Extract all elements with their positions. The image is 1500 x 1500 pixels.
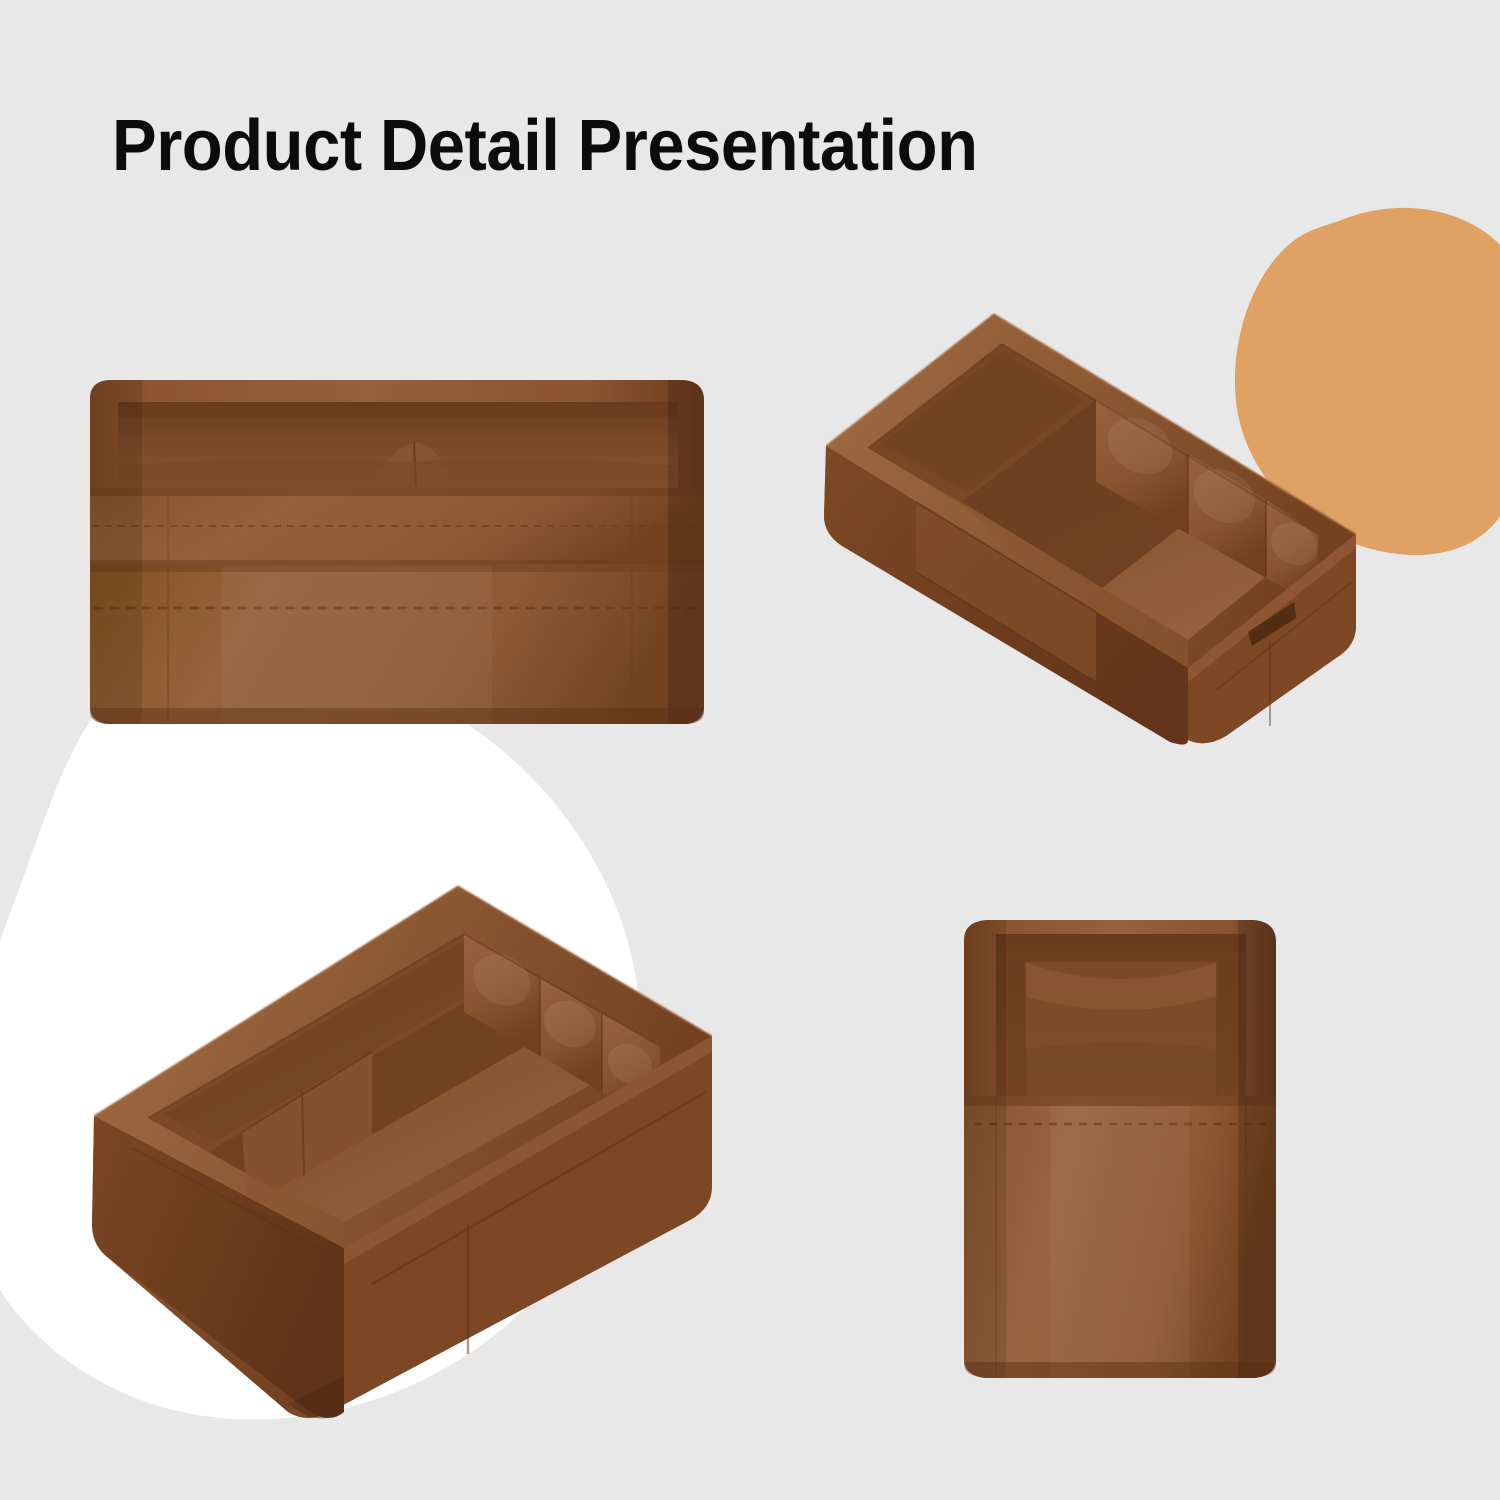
product-image-small-front[interactable] (940, 900, 1300, 1400)
product-image-front-view[interactable] (72, 368, 720, 748)
product-image-angled-large[interactable] (72, 856, 732, 1436)
product-image-angled-open[interactable] (796, 296, 1416, 896)
page-title: Product Detail Presentation (112, 110, 1321, 182)
presentation-canvas: Product Detail Presentation (0, 0, 1500, 1500)
